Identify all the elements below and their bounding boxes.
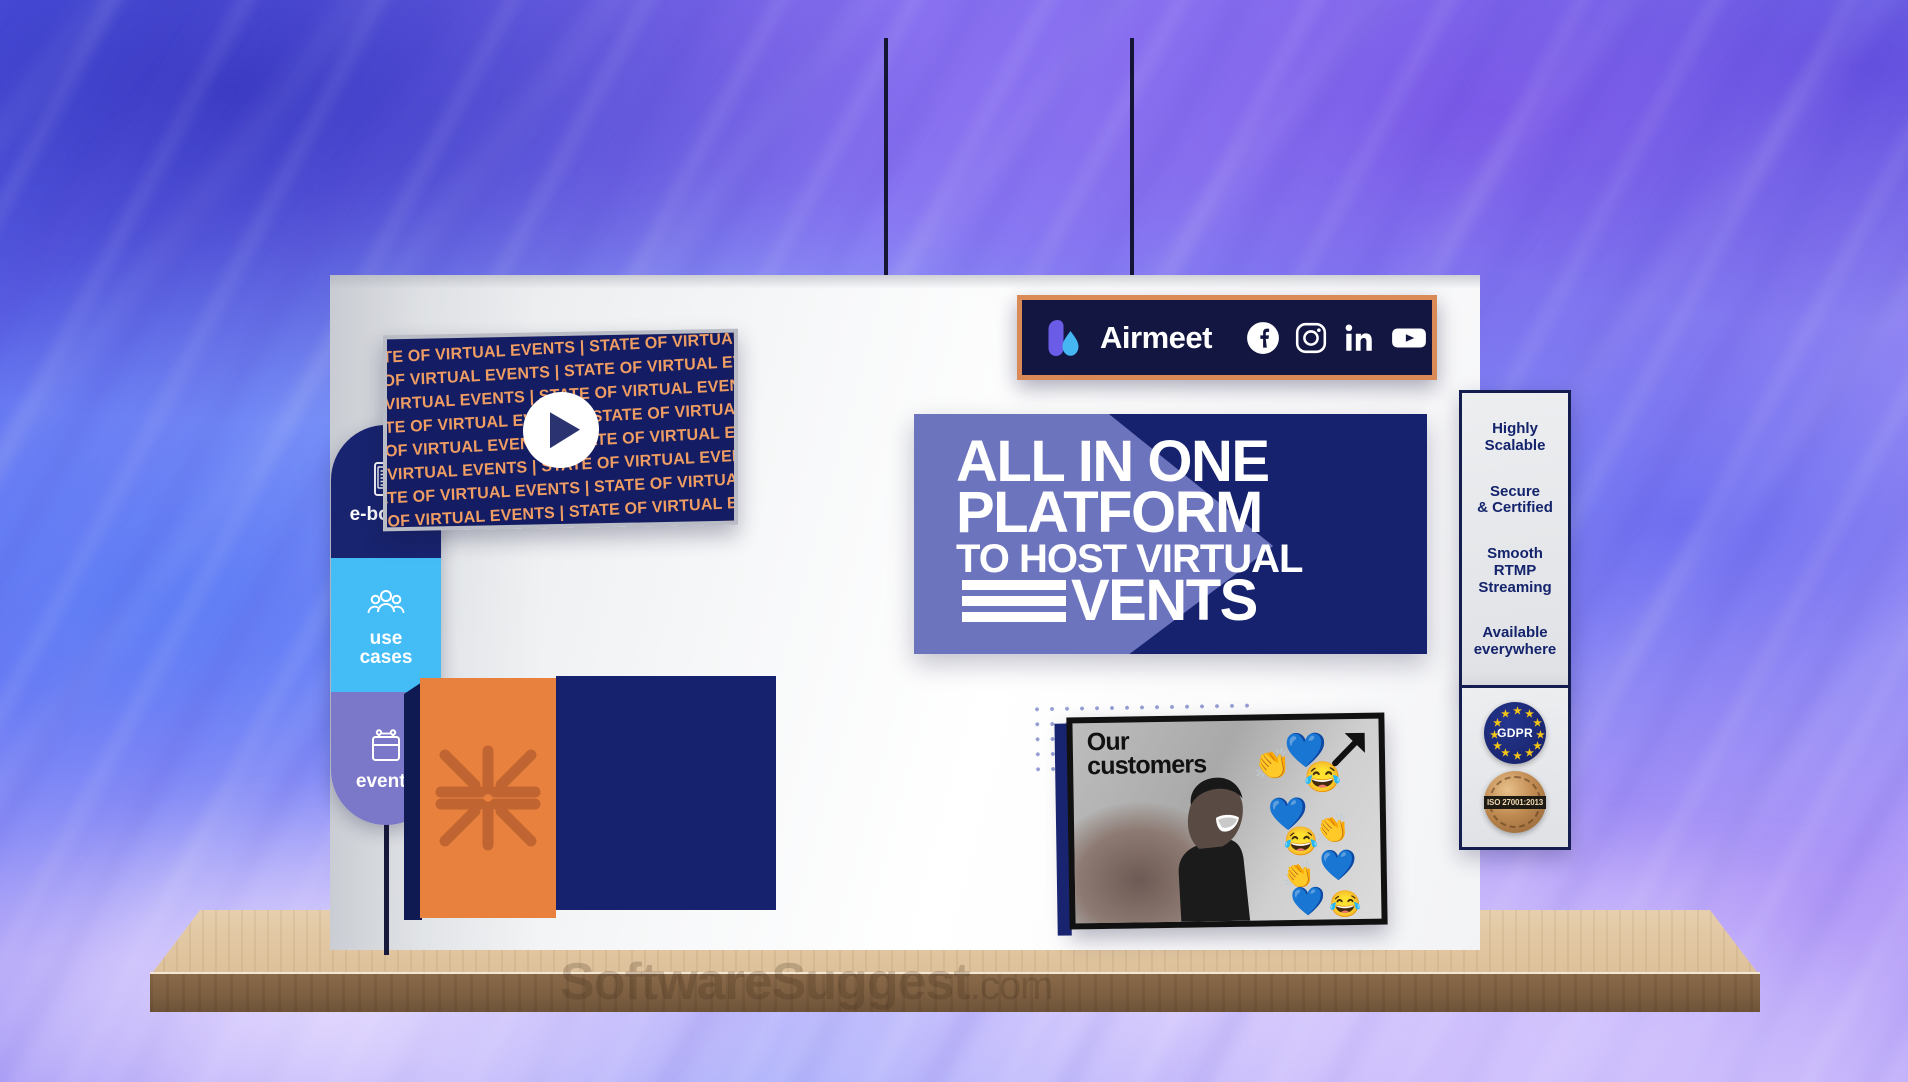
video-screen[interactable]: STATE OF VIRTUAL EVENTS | STATE OF VIRTU… xyxy=(383,329,738,532)
wall-top-fold xyxy=(330,275,1480,289)
calendar-icon xyxy=(366,726,406,766)
converging-arrows-logo xyxy=(435,745,541,851)
linkedin-icon[interactable] xyxy=(1342,321,1376,355)
social-links[interactable] xyxy=(1246,321,1424,355)
laughing-emoji: 😂 xyxy=(1329,891,1362,918)
features-panel: HighlyScalable Secure& Certified SmoothR… xyxy=(1459,390,1571,690)
headline-line-4-text: VENTS xyxy=(1071,575,1257,626)
instagram-icon[interactable] xyxy=(1294,321,1328,355)
feature-item-rtmp: SmoothRTMPStreaming xyxy=(1478,546,1551,596)
blue-heart-emoji: 💙 xyxy=(1319,851,1357,882)
arrow-up-right-icon xyxy=(1327,725,1372,770)
feature-item-secure: Secure& Certified xyxy=(1477,484,1553,518)
gdpr-badge-label: GDPR xyxy=(1497,726,1533,740)
clapping-hands-emoji: 👏 xyxy=(1254,750,1292,781)
headline-line-2: PLATFORM xyxy=(956,487,1421,538)
our-customers-panel[interactable]: Ourcustomers 💙 👏 😂 💙 👏 😂 💙 👏 💙 😂 xyxy=(1066,713,1387,930)
sidebar-item-use-cases[interactable]: usecases xyxy=(331,558,441,691)
customers-title: Ourcustomers xyxy=(1087,729,1207,778)
feature-item-available: Availableeverywhere xyxy=(1474,625,1557,659)
headline-panel: ALL IN ONE PLATFORM TO HOST VIRTUAL VENT… xyxy=(914,414,1427,654)
sidebar-stand-pole xyxy=(384,820,389,955)
laughing-emoji: 😂 xyxy=(1283,828,1318,857)
headline-text: ALL IN ONE PLATFORM TO HOST VIRTUAL VENT… xyxy=(956,436,1421,626)
hanging-cable-right xyxy=(1130,38,1134,300)
stylized-e-icon xyxy=(962,580,1066,622)
blue-heart-emoji: 💙 xyxy=(1290,887,1325,916)
hanging-cable-left xyxy=(884,38,888,300)
iso-badge-label: ISO 27001:2013 xyxy=(1484,796,1546,809)
airmeet-brand-banner[interactable]: Airmeet xyxy=(1017,295,1437,380)
play-triangle xyxy=(550,412,580,449)
clapping-hands-emoji: 👏 xyxy=(1315,815,1350,844)
stage-floor-front-edge xyxy=(150,972,1760,1012)
gdpr-badge-icon: ★ ★ ★ ★ ★ ★ ★ ★ ★ ★ ★ ★ GDPR xyxy=(1484,702,1546,764)
airmeet-droplet-logo xyxy=(1044,317,1084,359)
headline-line-4: VENTS xyxy=(956,575,1421,626)
clapping-hands-emoji: 👏 xyxy=(1282,862,1315,889)
airmeet-brand-name: Airmeet xyxy=(1100,320,1212,356)
laughing-man-photo: Ourcustomers 💙 👏 😂 💙 👏 😂 💙 👏 💙 😂 xyxy=(1072,719,1381,924)
play-button-icon[interactable] xyxy=(523,391,599,468)
youtube-icon[interactable] xyxy=(1390,321,1424,355)
desk-navy-panel xyxy=(556,676,776,910)
certification-badges-panel: ★ ★ ★ ★ ★ ★ ★ ★ ★ ★ ★ ★ GDPR ISO 27001:2… xyxy=(1459,685,1571,850)
sidebar-item-label-use-cases: usecases xyxy=(356,629,417,668)
facebook-icon[interactable] xyxy=(1246,321,1280,355)
desk-orange-panel xyxy=(420,678,556,918)
booth-stage: SoftwareSuggest.com e-books xyxy=(0,0,1908,1082)
feature-item-scalable: HighlyScalable xyxy=(1485,421,1546,455)
iso-certified-seal-icon: ISO 27001:2013 xyxy=(1484,771,1546,833)
people-group-icon xyxy=(366,583,406,623)
